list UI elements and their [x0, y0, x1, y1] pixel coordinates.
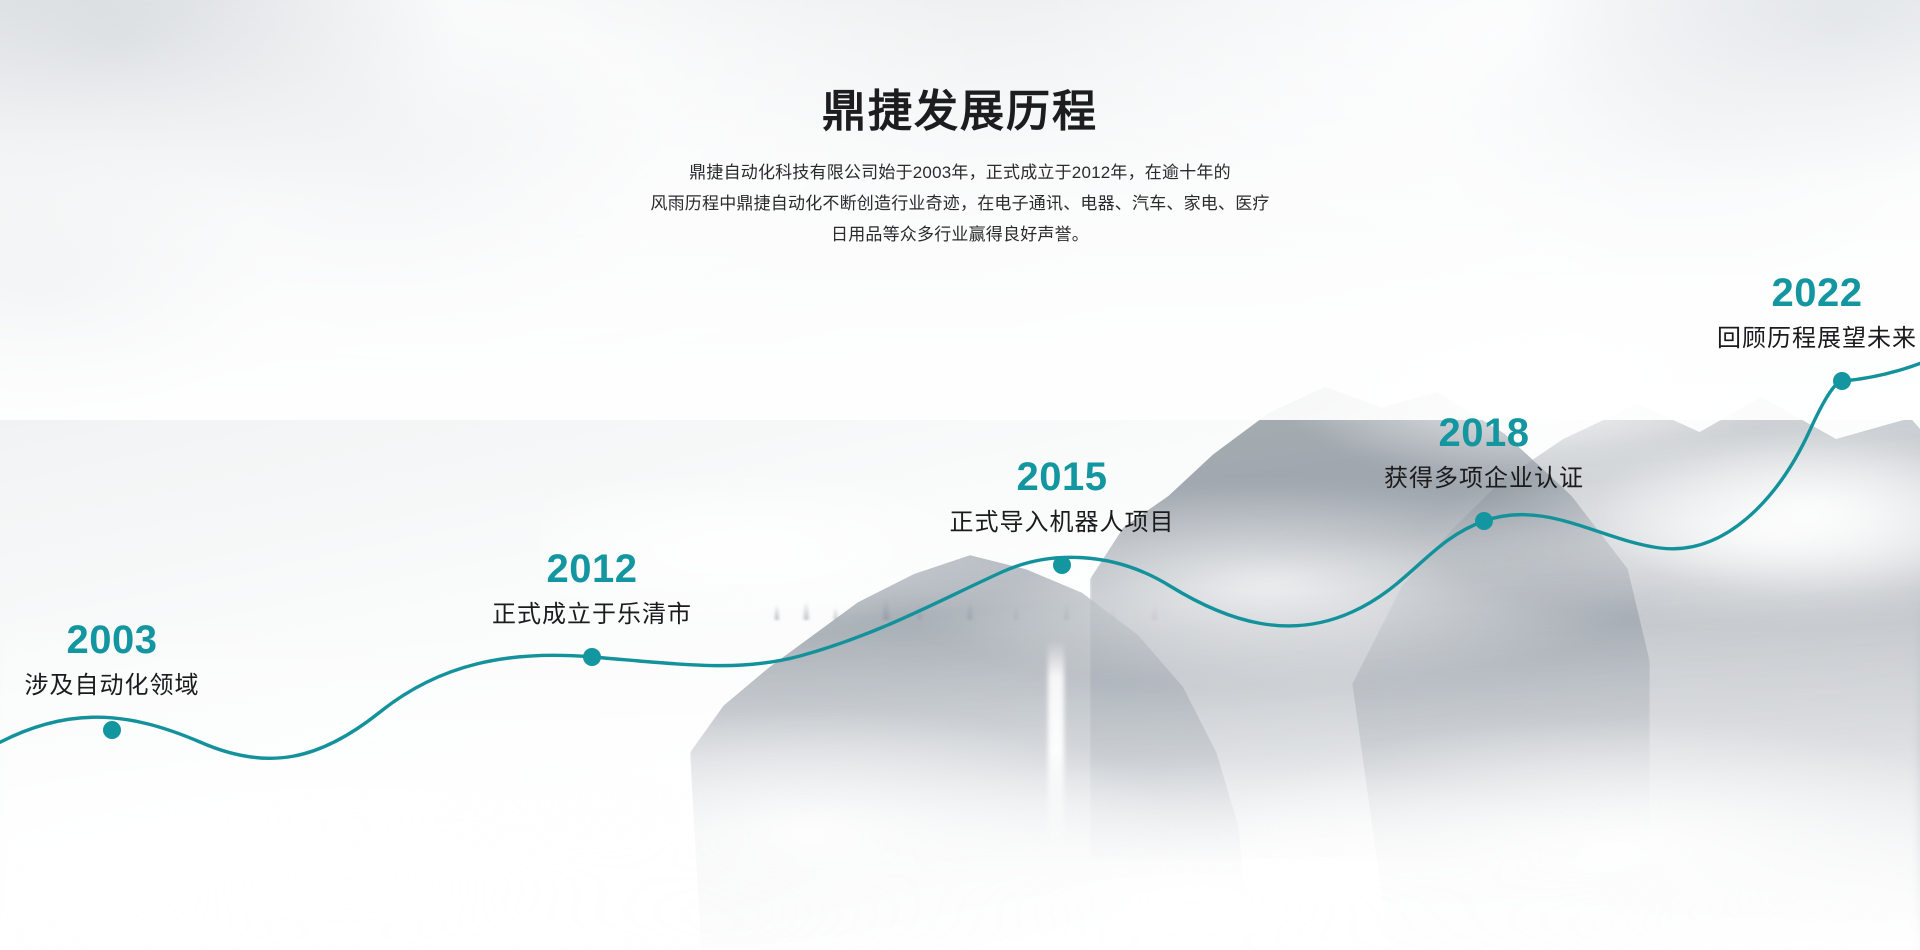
- milestone-label: 回顾历程展望未来: [1717, 318, 1917, 353]
- milestone-label: 正式导入机器人项目: [950, 502, 1175, 537]
- header: 鼎捷发展历程 鼎捷自动化科技有限公司始于2003年，正式成立于2012年，在逾十…: [0, 88, 1920, 251]
- milestone-label: 涉及自动化领域: [25, 665, 200, 700]
- milestone-year: 2018: [1384, 412, 1584, 454]
- timeline-dot[interactable]: [1833, 372, 1851, 390]
- page-title: 鼎捷发展历程: [0, 88, 1920, 136]
- description-line-3: 日用品等众多行业赢得良好声誉。: [560, 220, 1360, 251]
- milestone-2018[interactable]: 2018获得多项企业认证: [1384, 412, 1584, 493]
- milestone-2012[interactable]: 2012正式成立于乐清市: [492, 548, 692, 629]
- milestone-year: 2015: [950, 456, 1175, 498]
- milestone-label: 正式成立于乐清市: [492, 594, 692, 629]
- timeline-poster: 鼎捷发展历程 鼎捷自动化科技有限公司始于2003年，正式成立于2012年，在逾十…: [0, 0, 1920, 950]
- timeline-dot[interactable]: [1053, 556, 1071, 574]
- milestone-year: 2022: [1717, 272, 1917, 314]
- timeline-dot-group: [103, 372, 1851, 739]
- description-line-2: 风雨历程中鼎捷自动化不断创造行业奇迹，在电子通讯、电器、汽车、家电、医疗: [560, 189, 1360, 220]
- timeline-dot[interactable]: [583, 648, 601, 666]
- timeline-dot[interactable]: [103, 721, 121, 739]
- page-description: 鼎捷自动化科技有限公司始于2003年，正式成立于2012年，在逾十年的 风雨历程…: [560, 158, 1360, 251]
- description-line-1: 鼎捷自动化科技有限公司始于2003年，正式成立于2012年，在逾十年的: [560, 158, 1360, 189]
- timeline-dot[interactable]: [1475, 512, 1493, 530]
- milestone-year: 2012: [492, 548, 692, 590]
- milestone-2003[interactable]: 2003涉及自动化领域: [25, 619, 200, 700]
- milestone-label: 获得多项企业认证: [1384, 458, 1584, 493]
- milestone-2022[interactable]: 2022回顾历程展望未来: [1717, 272, 1917, 353]
- milestone-2015[interactable]: 2015正式导入机器人项目: [950, 456, 1175, 537]
- milestone-year: 2003: [25, 619, 200, 661]
- timeline-curve: [0, 350, 1920, 760]
